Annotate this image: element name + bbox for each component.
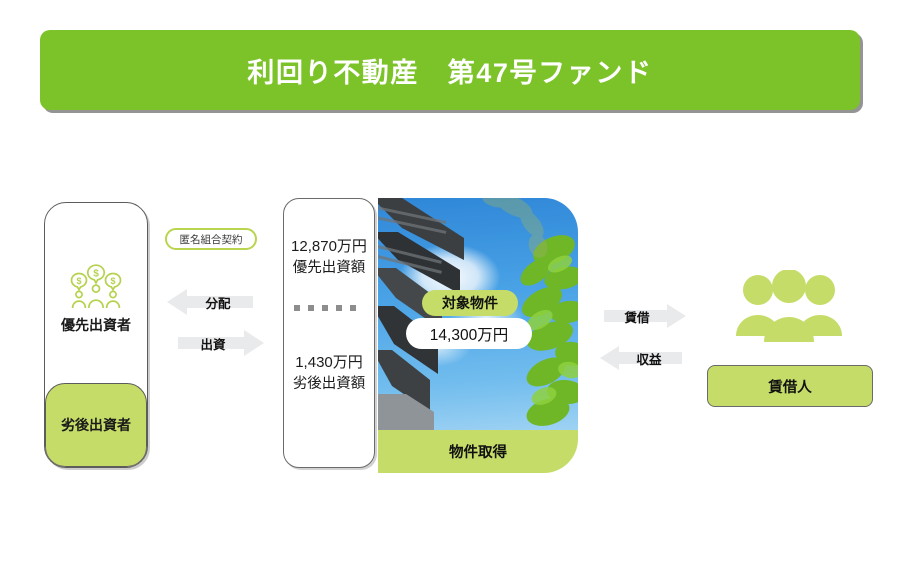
target-property-badge: 対象物件	[422, 290, 518, 316]
arrow-right-icon	[604, 302, 686, 330]
property-acquisition-band: 物件取得	[378, 430, 578, 473]
junior-investor-label: 劣後出資者	[61, 415, 131, 435]
svg-text:$: $	[76, 276, 81, 286]
tenant-box: 賃借人	[707, 365, 873, 407]
target-property-label: 対象物件	[442, 293, 498, 313]
revenue-arrow: 収益	[600, 344, 682, 372]
investor-card: $ $ $ 優先出資者 劣後出資者	[44, 202, 148, 468]
investors-with-money-icon: $ $ $	[67, 263, 125, 309]
property-price-badge: 14,300万円	[406, 318, 532, 349]
silent-partnership-contract-badge: 匿名組合契約	[165, 228, 257, 250]
people-group-icon	[730, 270, 848, 348]
investment-arrow: 出資	[178, 328, 264, 358]
arrow-left-icon	[167, 287, 253, 317]
arrow-left-icon	[600, 344, 682, 372]
fund-scheme-diagram: 利回り不動産 第47号ファンド	[0, 0, 900, 570]
property-photo-card: 対象物件 14,300万円 物件取得	[378, 198, 578, 473]
junior-amount: 1,430万円	[295, 351, 363, 374]
senior-amount: 12,870万円	[291, 235, 367, 258]
senior-amount-label: 優先出資額	[293, 258, 366, 278]
senior-investor-section: $ $ $ 優先出資者	[45, 203, 147, 395]
contract-label: 匿名組合契約	[180, 232, 243, 247]
capital-breakdown-card: 12,870万円 優先出資額 1,430万円 劣後出資額	[283, 198, 375, 468]
arrow-right-icon	[178, 328, 264, 358]
junior-amount-label: 劣後出資額	[293, 374, 366, 394]
distribution-arrow: 分配	[167, 287, 253, 317]
junior-investor-section: 劣後出資者	[45, 383, 147, 467]
fund-title-banner: 利回り不動産 第47号ファンド	[40, 30, 860, 110]
blurred-leaf-icon	[480, 198, 564, 266]
capital-divider	[294, 305, 364, 311]
tenant-label: 賃借人	[768, 376, 812, 397]
fund-title-text: 利回り不動産 第47号ファンド	[247, 51, 652, 90]
senior-investor-label: 優先出資者	[61, 315, 131, 335]
svg-text:$: $	[93, 268, 99, 279]
svg-text:$: $	[110, 276, 115, 286]
property-price-value: 14,300万円	[430, 323, 508, 345]
property-acquisition-label: 物件取得	[449, 441, 507, 462]
lease-arrow: 賃借	[604, 302, 686, 330]
